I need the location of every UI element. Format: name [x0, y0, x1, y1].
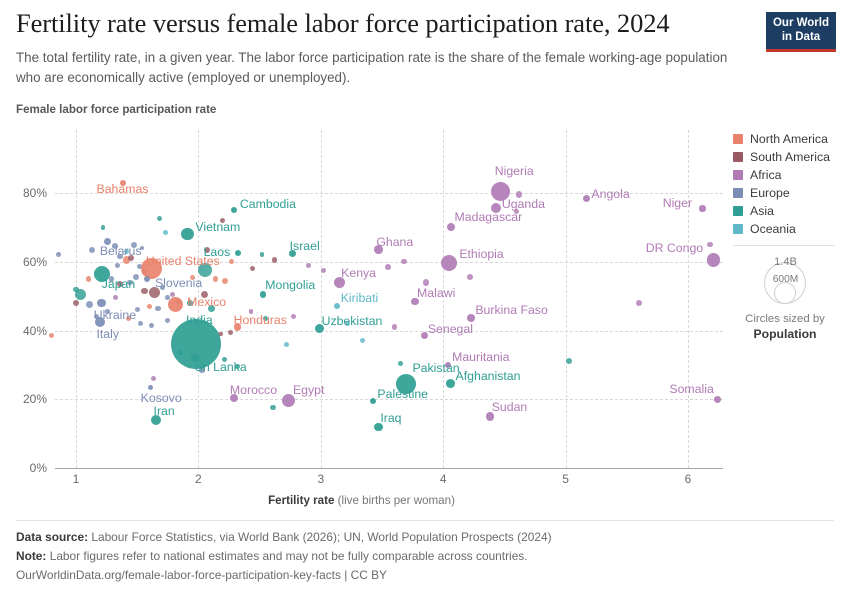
data-point-unlabeled[interactable] — [115, 263, 120, 268]
data-point[interactable] — [97, 299, 106, 308]
data-point-label: Honduras — [234, 314, 287, 326]
footer-source-label: Data source: — [16, 530, 88, 544]
legend-swatch-icon — [733, 152, 743, 162]
data-point-unlabeled[interactable] — [222, 278, 228, 284]
legend-label: Europe — [750, 186, 790, 200]
data-point-unlabeled[interactable] — [360, 338, 365, 343]
data-point-label: Madagascar — [455, 211, 523, 223]
data-point-unlabeled[interactable] — [86, 276, 91, 281]
scatter-plot-area[interactable]: 1234560%20%40%60%80%BahamasNigeriaUganda… — [0, 0, 850, 600]
data-point-unlabeled[interactable] — [228, 330, 233, 335]
x-axis-tick-label: 1 — [56, 472, 96, 486]
data-point[interactable] — [231, 207, 237, 213]
legend-item-oceania[interactable]: Oceania — [733, 220, 848, 238]
data-point-label: Sudan — [492, 401, 528, 413]
size-legend-small-label: 600M — [733, 274, 838, 285]
footer-source-row: Data source: Labour Force Statistics, vi… — [16, 528, 776, 547]
data-point-unlabeled[interactable] — [56, 252, 61, 257]
data-point-label: Somalia — [669, 383, 713, 395]
data-point-unlabeled[interactable] — [270, 405, 275, 410]
data-point-unlabeled[interactable] — [89, 247, 95, 253]
data-point-unlabeled[interactable] — [385, 264, 391, 270]
data-point[interactable] — [707, 253, 721, 267]
data-point[interactable] — [181, 228, 193, 240]
legend-item-south-america[interactable]: South America — [733, 148, 848, 166]
data-point-label: Morocco — [230, 384, 277, 396]
data-point-unlabeled[interactable] — [272, 257, 277, 262]
data-point-label: Burkina Faso — [475, 304, 547, 316]
legend-swatch-icon — [733, 134, 743, 144]
y-axis-tick-label: 60% — [0, 255, 47, 269]
data-point-label: Senegal — [428, 323, 473, 335]
legend-label: South America — [750, 150, 830, 164]
data-point[interactable] — [334, 303, 340, 309]
data-point-label: Bahamas — [97, 183, 149, 195]
data-point-label: Uzbekistan — [322, 315, 383, 327]
data-point-unlabeled[interactable] — [467, 274, 473, 280]
data-point-label: Pakistan — [412, 362, 459, 374]
legend-swatch-icon — [733, 170, 743, 180]
data-point-unlabeled[interactable] — [170, 292, 175, 297]
data-point-label: India — [186, 314, 213, 326]
data-point-unlabeled[interactable] — [141, 288, 148, 295]
chart-footer: Data source: Labour Force Statistics, vi… — [16, 528, 776, 585]
y-gridline — [55, 331, 723, 332]
legend-swatch-icon — [733, 188, 743, 198]
data-point[interactable] — [714, 396, 721, 403]
data-point-unlabeled[interactable] — [163, 230, 168, 235]
data-point-label: Sri Lanka — [195, 361, 247, 373]
legend-swatch-icon — [733, 224, 743, 234]
data-point-unlabeled[interactable] — [423, 279, 429, 285]
data-point-label: Cambodia — [240, 198, 296, 210]
data-point-unlabeled[interactable] — [401, 259, 406, 264]
footer-source-text: Labour Force Statistics, via World Bank … — [91, 530, 551, 544]
data-point-unlabeled[interactable] — [398, 361, 403, 366]
footer-url[interactable]: OurWorldinData.org/female-labor-force-pa… — [16, 566, 776, 585]
data-point-unlabeled[interactable] — [260, 252, 265, 257]
y-axis-tick-label: 80% — [0, 186, 47, 200]
y-axis-tick-label: 20% — [0, 392, 47, 406]
data-point-label: Vietnam — [195, 221, 240, 233]
data-point-label: Malawi — [417, 287, 455, 299]
x-axis-tick-label: 6 — [668, 472, 708, 486]
y-axis-tick-label: 0% — [0, 461, 47, 475]
data-point-label: Egypt — [293, 384, 324, 396]
data-point-unlabeled[interactable] — [707, 242, 712, 247]
data-point-unlabeled[interactable] — [392, 324, 397, 329]
data-point-label: Ethiopia — [459, 248, 503, 260]
data-point-unlabeled[interactable] — [213, 276, 219, 282]
data-point-unlabeled[interactable] — [49, 333, 54, 338]
data-point-unlabeled[interactable] — [149, 323, 154, 328]
data-point-unlabeled[interactable] — [165, 318, 170, 323]
data-point-label: Angola — [591, 188, 629, 200]
data-point[interactable] — [583, 195, 590, 202]
data-point-label: Japan — [102, 278, 136, 290]
data-point-label: Afghanistan — [456, 370, 521, 382]
data-point[interactable] — [699, 205, 705, 211]
owid-chart-root: Fertility rate versus female labor force… — [0, 0, 850, 600]
data-point-unlabeled[interactable] — [306, 263, 311, 268]
legend-item-europe[interactable]: Europe — [733, 184, 848, 202]
footer-note-text: Labor figures refer to national estimate… — [50, 549, 528, 563]
legend-item-africa[interactable]: Africa — [733, 166, 848, 184]
size-legend-big-label: 1.4B — [733, 256, 838, 268]
size-legend-caption: Circles sized by Population — [726, 312, 844, 343]
data-point-label: Kiribati — [341, 292, 379, 304]
data-point-unlabeled[interactable] — [155, 306, 160, 311]
data-point-unlabeled[interactable] — [284, 342, 289, 347]
footer-divider — [16, 520, 834, 521]
data-point-label: Mauritania — [452, 351, 509, 363]
legend-item-asia[interactable]: Asia — [733, 202, 848, 220]
size-legend-caption-line2: Population — [754, 327, 817, 341]
x-axis-tick-label: 3 — [301, 472, 341, 486]
data-point-label: Mexico — [187, 296, 226, 308]
data-point[interactable] — [168, 297, 183, 312]
data-point-label: DR Congo — [646, 242, 703, 254]
data-point-label: Iran — [154, 405, 175, 417]
data-point-unlabeled[interactable] — [291, 314, 296, 319]
data-point-label: Ukraine — [94, 309, 136, 321]
y-axis-tick-label: 40% — [0, 324, 47, 338]
data-point-label: United States — [146, 255, 220, 267]
data-point-unlabeled[interactable] — [73, 300, 79, 306]
data-point-label: Kosovo — [141, 392, 182, 404]
data-point-unlabeled[interactable] — [566, 358, 572, 364]
x-gridline — [321, 130, 322, 468]
data-point-unlabeled[interactable] — [321, 268, 326, 273]
data-point-label: Ghana — [376, 236, 413, 248]
x-axis-tick-label: 2 — [178, 472, 218, 486]
legend-label: North America — [750, 132, 828, 146]
legend-swatch-icon — [733, 206, 743, 216]
data-point-unlabeled[interactable] — [250, 266, 255, 271]
data-point-unlabeled[interactable] — [147, 304, 152, 309]
legend-label: Asia — [750, 204, 774, 218]
footer-note-row: Note: Labor figures refer to national es… — [16, 547, 776, 566]
data-point-label: Mongolia — [265, 279, 315, 291]
data-point-label: Israel — [290, 240, 320, 252]
legend-divider — [733, 245, 835, 246]
data-point[interactable] — [441, 255, 457, 271]
data-point-unlabeled[interactable] — [138, 321, 143, 326]
data-point-label: Kenya — [341, 267, 376, 279]
x-axis-line — [55, 468, 723, 469]
footer-note-label: Note: — [16, 549, 46, 563]
data-point-unlabeled[interactable] — [151, 376, 156, 381]
data-point-label: Nigeria — [495, 165, 534, 177]
legend-label: Africa — [750, 168, 781, 182]
size-legend-caption-line1: Circles sized by — [745, 313, 825, 325]
continent-legend[interactable]: North AmericaSouth AmericaAfricaEuropeAs… — [733, 130, 848, 238]
data-point-label: Palestine — [377, 388, 428, 400]
data-point[interactable] — [260, 291, 266, 297]
x-gridline — [688, 130, 689, 468]
data-point-label: Italy — [96, 328, 119, 340]
data-point[interactable] — [148, 385, 153, 390]
data-point-label: Slovenia — [155, 277, 202, 289]
data-point-label: Uganda — [502, 198, 545, 210]
data-point-unlabeled[interactable] — [75, 289, 86, 300]
data-point[interactable] — [446, 379, 455, 388]
data-point-unlabeled[interactable] — [157, 216, 162, 221]
data-point-unlabeled[interactable] — [101, 225, 106, 230]
x-axis-tick-label: 5 — [546, 472, 586, 486]
x-axis-tick-label: 4 — [423, 472, 463, 486]
data-point-label: Belarus — [100, 245, 142, 257]
data-point-unlabeled[interactable] — [113, 295, 118, 300]
legend-item-north-america[interactable]: North America — [733, 130, 848, 148]
data-point-label: Iraq — [380, 412, 401, 424]
data-point-unlabeled[interactable] — [86, 301, 93, 308]
legend-label: Oceania — [750, 222, 796, 236]
data-point-unlabeled[interactable] — [636, 300, 643, 307]
size-legend-small-circle — [774, 282, 796, 304]
data-point-unlabeled[interactable] — [229, 259, 234, 264]
data-point[interactable] — [370, 398, 376, 404]
data-point-label: Niger — [663, 197, 692, 209]
data-point[interactable] — [144, 276, 150, 282]
data-point[interactable] — [235, 250, 241, 256]
x-gridline — [566, 130, 567, 468]
data-point[interactable] — [447, 223, 455, 231]
